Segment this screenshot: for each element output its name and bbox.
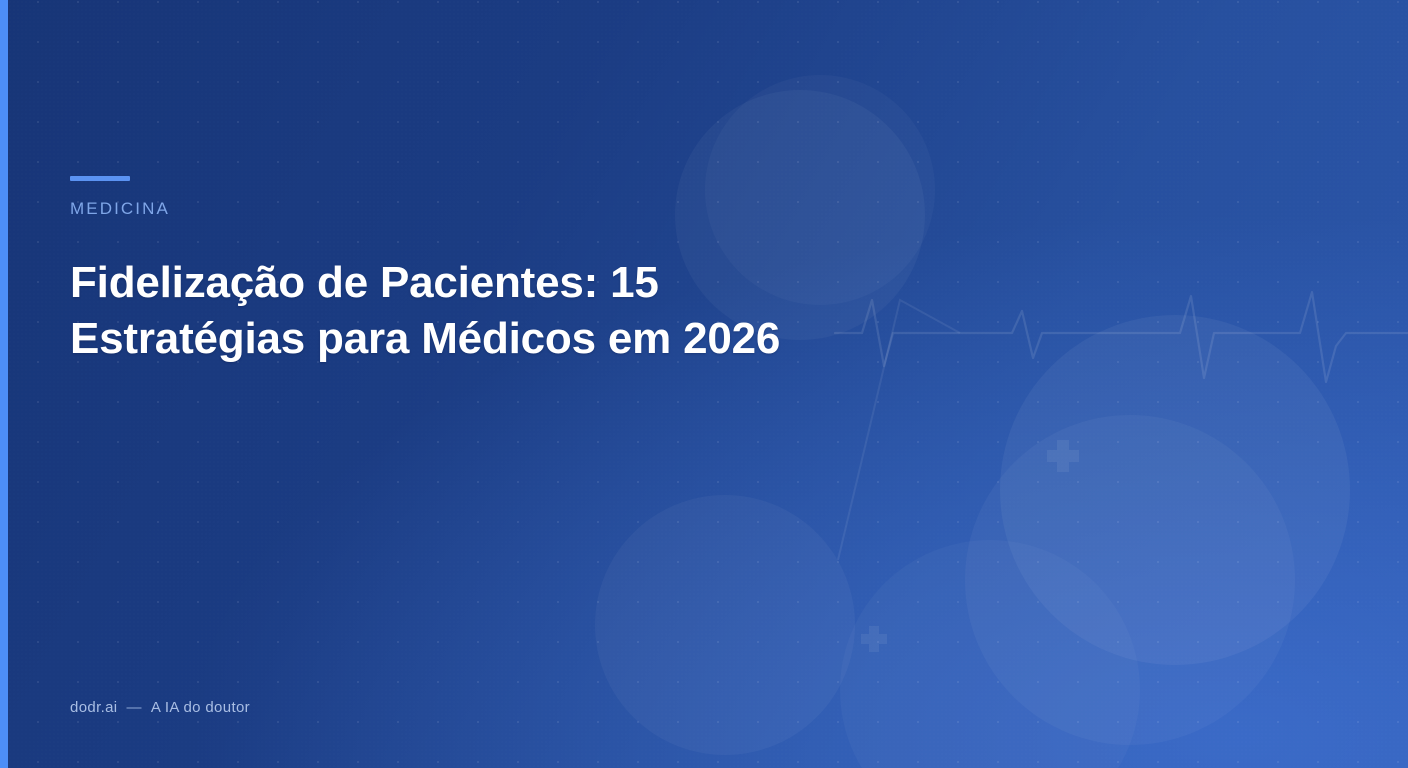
page-title-line-1: Fidelização de Pacientes: 15 xyxy=(70,255,860,311)
medical-cross-icon xyxy=(861,440,1079,652)
left-accent-bar xyxy=(0,0,8,768)
footer-brand: dodr.ai—A IA do doutor xyxy=(70,699,250,716)
brand-name: dodr.ai xyxy=(70,699,118,716)
social-card-canvas: MEDICINA Fidelização de Pacientes: 15 Es… xyxy=(0,0,1408,768)
hero-content: MEDICINA Fidelização de Pacientes: 15 Es… xyxy=(70,0,890,768)
page-title: Fidelização de Pacientes: 15 Estratégias… xyxy=(70,255,860,367)
accent-rule xyxy=(70,176,130,181)
category-label: MEDICINA xyxy=(70,199,170,219)
page-title-line-2: Estratégias para Médicos em 2026 xyxy=(70,311,860,367)
brand-separator: — xyxy=(118,699,151,716)
brand-tagline: A IA do doutor xyxy=(151,699,250,716)
